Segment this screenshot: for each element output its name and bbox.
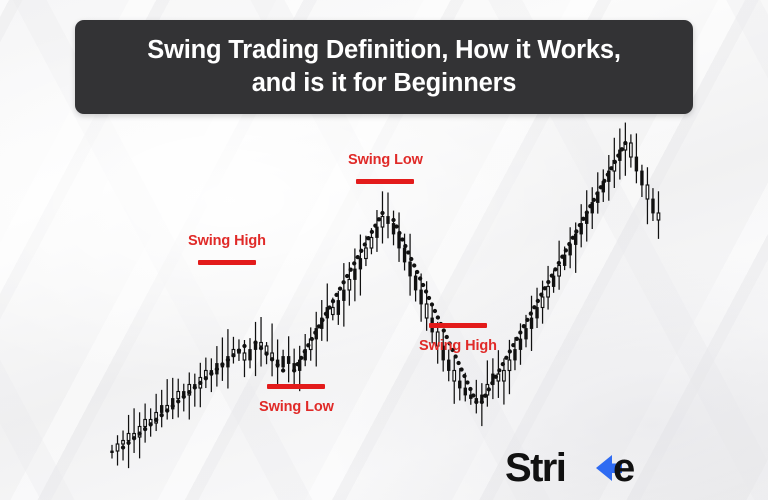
annotation-bar	[198, 260, 256, 265]
annotation-label: Swing High	[188, 234, 266, 250]
annotation-swing-high-2: Swing High	[419, 323, 497, 355]
annotation-bar	[356, 179, 414, 184]
swing-trendlines	[121, 141, 628, 450]
annotation-swing-low-2: Swing Low	[259, 384, 334, 416]
annotation-bar	[267, 384, 325, 389]
annotation-label: Swing Low	[259, 400, 334, 416]
logo-wordmark-before: Stri	[505, 446, 565, 490]
annotation-bar	[429, 323, 487, 328]
strike-logo[interactable]: Stri e	[505, 445, 645, 491]
strike-logo-svg: Stri e	[505, 445, 645, 491]
annotation-swing-low-1: Swing Low	[348, 153, 423, 184]
logo-wordmark-after: e	[613, 446, 634, 490]
annotation-label: Swing Low	[348, 153, 423, 169]
annotation-swing-high-1: Swing High	[188, 234, 266, 265]
annotation-label: Swing High	[419, 339, 497, 355]
page-title: Swing Trading Definition, How it Works, …	[147, 34, 620, 99]
title-banner: Swing Trading Definition, How it Works, …	[75, 20, 693, 114]
poster-canvas: Swing Trading Definition, How it Works, …	[0, 0, 768, 500]
